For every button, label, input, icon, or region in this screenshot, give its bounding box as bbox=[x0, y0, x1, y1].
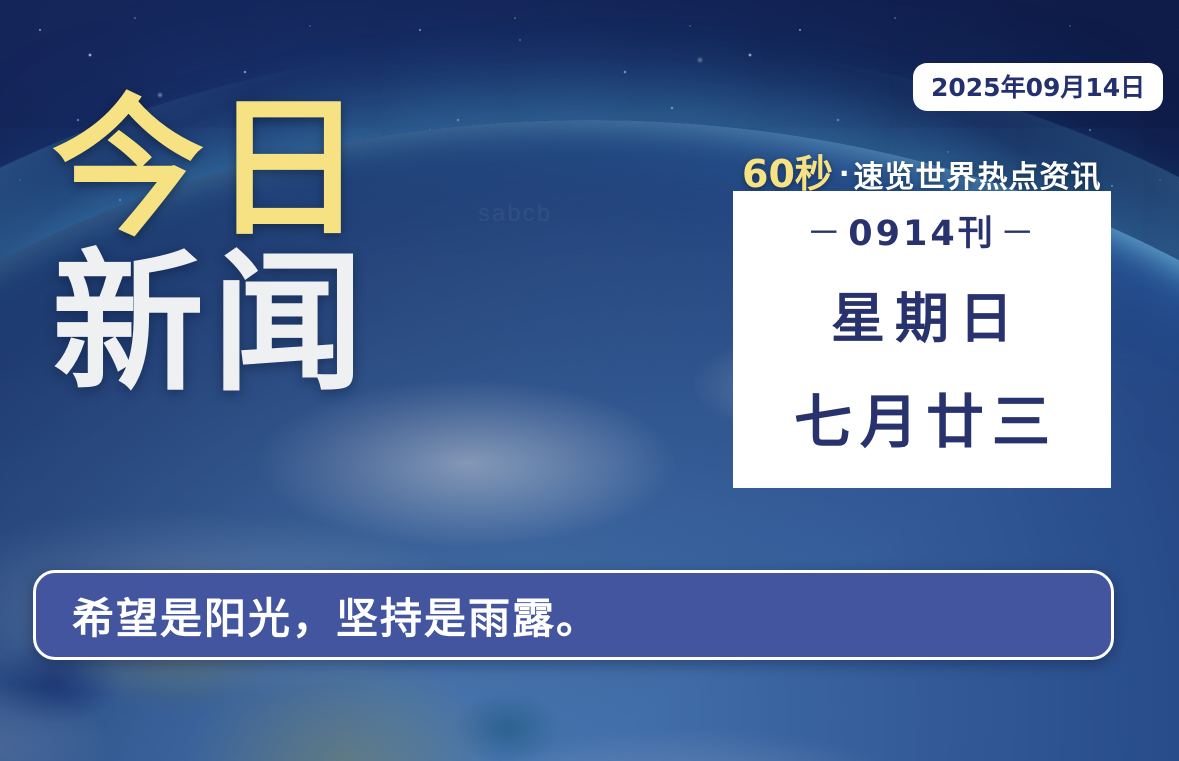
watermark-text: sabcb bbox=[478, 200, 552, 228]
date-badge: 2025年09月14日 bbox=[913, 63, 1163, 111]
tagline-separator: · bbox=[839, 157, 850, 190]
page-title-line-2: 新闻 bbox=[52, 253, 372, 394]
issue-dash-left: － bbox=[802, 214, 848, 254]
weekday-label: 星期日 bbox=[821, 274, 1023, 353]
news-poster: sabcb 今日 新闻 2025年09月14日 60秒·速览世界热点资讯 －09… bbox=[0, 0, 1179, 761]
page-title-line-1: 今日 bbox=[52, 98, 372, 239]
quote-text: 希望是阳光，坚持是雨露。 bbox=[36, 585, 600, 646]
issue-number-row: －0914刊－ bbox=[802, 205, 1041, 256]
issue-dash-right: － bbox=[996, 214, 1042, 254]
issue-number: 0914刊 bbox=[848, 214, 995, 254]
tagline-description: 速览世界热点资讯 bbox=[854, 160, 1102, 195]
lunar-date-label: 七月廿三 bbox=[786, 375, 1058, 459]
quote-bar: 希望是阳光，坚持是雨露。 bbox=[33, 570, 1114, 660]
tagline: 60秒·速览世界热点资讯 bbox=[742, 143, 1102, 198]
info-card: －0914刊－ 星期日 七月廿三 bbox=[733, 191, 1111, 488]
page-title: 今日 新闻 bbox=[52, 98, 372, 395]
tagline-seconds: 60秒 bbox=[742, 152, 833, 196]
